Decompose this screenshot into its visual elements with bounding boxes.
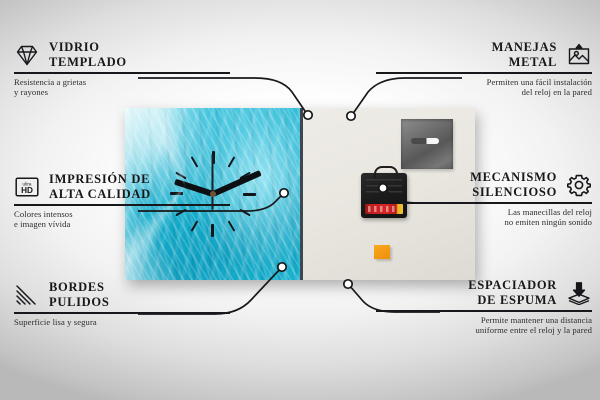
callout-title: VIDRIO TEMPLADO: [49, 40, 127, 69]
svg-text:HD: HD: [21, 186, 33, 195]
callout-desc: Resistencia a grietas y rayones: [14, 77, 230, 98]
infographic-canvas: VIDRIO TEMPLADO Resistencia a grietas y …: [0, 0, 600, 400]
foam-spacer-icon: [566, 281, 592, 305]
callout-title: BORDES PULIDOS: [49, 280, 109, 309]
callout-impresion-alta-calidad[interactable]: ultra HD IMPRESIÓN DE ALTA CALIDAD Color…: [14, 172, 230, 230]
metal-hanger-plate: [401, 119, 453, 169]
leader-dot-espaciador: [344, 280, 352, 288]
callout-rule: [376, 202, 592, 204]
callout-title: MANEJAS METAL: [492, 40, 557, 69]
callout-title: ESPACIADOR DE ESPUMA: [468, 278, 557, 307]
callout-desc: Colores intensos e imagen vívida: [14, 209, 230, 230]
callout-rule: [14, 72, 230, 74]
callout-desc: Permite mantener una distancia uniforme …: [376, 315, 592, 336]
callout-vidrio-templado[interactable]: VIDRIO TEMPLADO Resistencia a grietas y …: [14, 40, 230, 98]
foam-spacer: [374, 245, 390, 259]
ultra-hd-icon: ultra HD: [14, 175, 40, 199]
hanger-slot: [411, 138, 439, 144]
callout-rule: [376, 310, 592, 312]
callout-espaciador-espuma[interactable]: ESPACIADOR DE ESPUMA Permite mantener un…: [376, 278, 592, 336]
picture-frame-icon: [566, 43, 592, 67]
callout-title: IMPRESIÓN DE ALTA CALIDAD: [49, 172, 151, 201]
callout-bordes-pulidos[interactable]: BORDES PULIDOS Superficie lisa y segura: [14, 280, 230, 327]
callout-mecanismo-silencioso[interactable]: MECANISMO SILENCIOSO Las manecillas del …: [376, 170, 592, 228]
gear-icon: [566, 173, 592, 197]
callout-desc: Permiten una fácil instalación del reloj…: [376, 77, 592, 98]
callout-rule: [14, 312, 230, 314]
diamond-icon: [14, 43, 40, 67]
polished-edges-icon: [14, 283, 40, 307]
callout-rule: [14, 204, 230, 206]
callout-desc: Las manecillas del reloj no emiten ningú…: [376, 207, 592, 228]
callout-desc: Superficie lisa y segura: [14, 317, 230, 328]
callout-rule: [376, 72, 592, 74]
callout-title: MECANISMO SILENCIOSO: [470, 170, 557, 199]
callout-manejas-metal[interactable]: MANEJAS METAL Permiten una fácil instala…: [376, 40, 592, 98]
